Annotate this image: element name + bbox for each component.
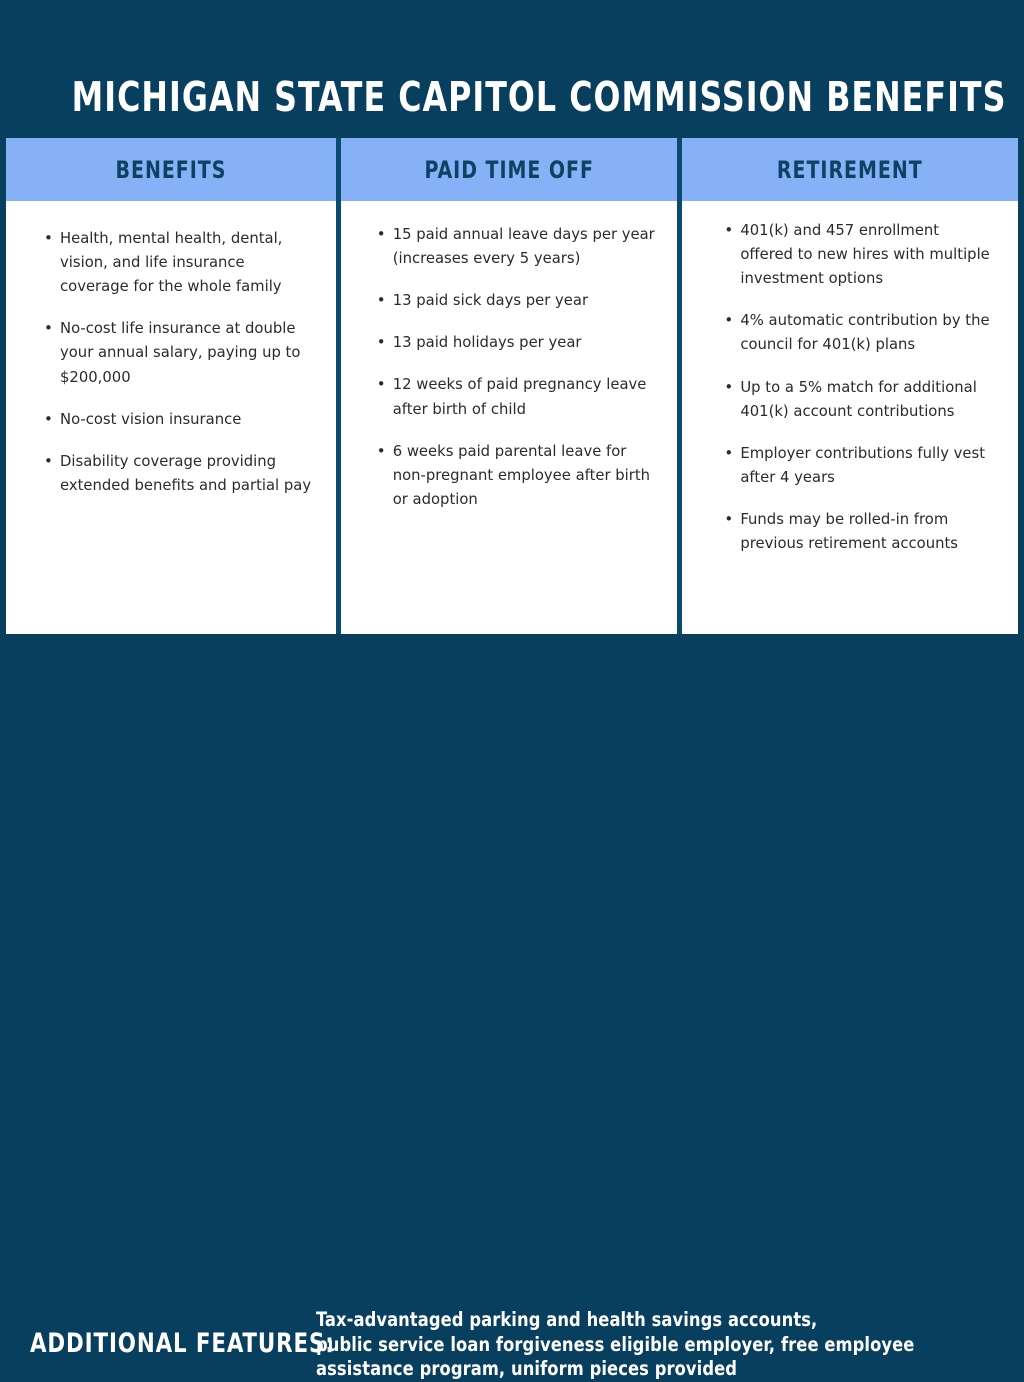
column-header-benefits: BENEFITS xyxy=(6,138,336,201)
column-header-retirement: RETIREMENT xyxy=(682,138,1018,201)
footer-section: ADDITIONAL FEATURES: Tax-advantaged park… xyxy=(0,640,1024,768)
list-item: Funds may be rolled-in from previous ret… xyxy=(724,508,992,556)
additional-features-label: ADDITIONAL FEATURES: xyxy=(30,1328,335,1359)
column-header-retirement-label: RETIREMENT xyxy=(777,156,923,184)
bullet-list-paid-time-off: 15 paid annual leave days per year (incr… xyxy=(361,223,662,512)
footer-line: assistance program, uniform pieces provi… xyxy=(316,1357,958,1382)
list-item: 4% automatic contribution by the council… xyxy=(724,309,992,357)
column-body-retirement: 401(k) and 457 enrollment offered to new… xyxy=(682,201,1018,634)
list-item: 15 paid annual leave days per year (incr… xyxy=(377,223,662,271)
list-item: 13 paid holidays per year xyxy=(377,331,662,355)
bullet-list-retirement: 401(k) and 457 enrollment offered to new… xyxy=(708,219,992,556)
column-body-paid-time-off: 15 paid annual leave days per year (incr… xyxy=(341,201,678,634)
column-retirement: RETIREMENT 401(k) and 457 enrollment off… xyxy=(682,138,1018,634)
column-benefits: BENEFITS Health, mental health, dental, … xyxy=(6,138,336,634)
infographic-page: MICHIGAN STATE CAPITOL COMMISSION BENEFI… xyxy=(0,0,1024,768)
list-item: 12 weeks of paid pregnancy leave after b… xyxy=(377,373,662,421)
list-item: Disability coverage providing extended b… xyxy=(44,450,318,498)
list-item: Up to a 5% match for additional 401(k) a… xyxy=(724,376,992,424)
footer-line: Tax-advantaged parking and health saving… xyxy=(316,1308,958,1333)
additional-features-text: Tax-advantaged parking and health saving… xyxy=(316,1308,1006,1382)
list-item: No-cost vision insurance xyxy=(44,408,318,432)
list-item: Health, mental health, dental, vision, a… xyxy=(44,227,318,299)
list-item: No-cost life insurance at double your an… xyxy=(44,317,318,389)
page-title: MICHIGAN STATE CAPITOL COMMISSION BENEFI… xyxy=(72,75,953,120)
benefits-table: BENEFITS Health, mental health, dental, … xyxy=(6,138,1018,634)
list-item: Employer contributions fully vest after … xyxy=(724,442,992,490)
list-item: 6 weeks paid parental leave for non-preg… xyxy=(377,440,662,512)
column-header-paid-time-off-label: PAID TIME OFF xyxy=(424,156,593,184)
column-header-paid-time-off: PAID TIME OFF xyxy=(341,138,678,201)
column-body-benefits: Health, mental health, dental, vision, a… xyxy=(6,201,336,634)
list-item: 13 paid sick days per year xyxy=(377,289,662,313)
footer-line: public service loan forgiveness eligible… xyxy=(316,1333,958,1358)
list-item: 401(k) and 457 enrollment offered to new… xyxy=(724,219,992,291)
bullet-list-benefits: Health, mental health, dental, vision, a… xyxy=(28,227,318,498)
column-header-benefits-label: BENEFITS xyxy=(115,156,226,184)
column-paid-time-off: PAID TIME OFF 15 paid annual leave days … xyxy=(341,138,678,634)
